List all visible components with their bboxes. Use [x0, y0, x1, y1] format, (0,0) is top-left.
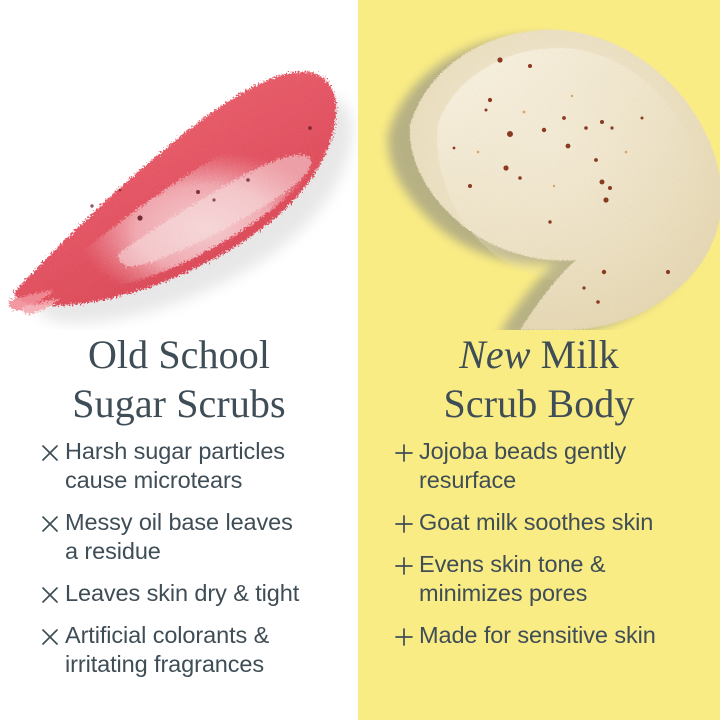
plus-icon [392, 622, 419, 651]
plus-icon [392, 551, 419, 580]
list-item: Evens skin tone & minimizes pores [392, 550, 712, 608]
old-school-heading: Old School Sugar Scrubs [0, 330, 358, 428]
list-item-line1: Evens skin tone & [419, 551, 605, 577]
list-item: Goat milk soothes skin [392, 508, 712, 537]
list-item-line2: irritating fragrances [65, 651, 264, 677]
list-item: Messy oil base leaves a residue [38, 508, 348, 566]
list-item-text: Harsh sugar particles cause microtears [65, 437, 285, 495]
comparison-graphic: Old School Sugar Scrubs Harsh sugar part… [0, 0, 720, 720]
x-icon [38, 580, 65, 609]
list-item-line1: Artificial colorants & [65, 622, 269, 648]
list-item-line1: Messy oil base leaves [65, 509, 293, 535]
list-item-text: Goat milk soothes skin [419, 508, 653, 537]
list-item-text: Messy oil base leaves a residue [65, 508, 293, 566]
list-item-line2: resurface [419, 467, 516, 493]
list-item-line2: a residue [65, 538, 161, 564]
old-school-heading-line1: Old School [0, 330, 358, 379]
list-item-text: Evens skin tone & minimizes pores [419, 550, 605, 608]
new-milk-heading-line1-rest: Milk [531, 332, 619, 377]
list-item: Made for sensitive skin [392, 621, 712, 650]
list-item-text: Artificial colorants & irritating fragra… [65, 621, 269, 679]
list-item: Harsh sugar particles cause microtears [38, 437, 348, 495]
list-item-line1: Harsh sugar particles [65, 438, 285, 464]
new-milk-scrub-panel: New Milk Scrub Body Jojoba beads gently … [358, 0, 720, 720]
list-item-line2: minimizes pores [419, 580, 587, 606]
x-icon [38, 622, 65, 651]
old-school-panel: Old School Sugar Scrubs Harsh sugar part… [0, 0, 358, 720]
plus-icon [392, 509, 419, 538]
old-school-cons-list: Harsh sugar particles cause microtears M… [0, 437, 358, 692]
list-item-line1: Goat milk soothes skin [419, 509, 653, 535]
list-item-text: Made for sensitive skin [419, 621, 656, 650]
list-item: Leaves skin dry & tight [38, 579, 348, 608]
list-item-line1: Jojoba beads gently [419, 438, 626, 464]
new-milk-heading: New Milk Scrub Body [358, 330, 720, 428]
cream-milk-scrub-swatch-image [358, 0, 720, 330]
list-item: Jojoba beads gently resurface [392, 437, 712, 495]
new-milk-heading-line1: New Milk [358, 330, 720, 379]
list-item: Artificial colorants & irritating fragra… [38, 621, 348, 679]
list-item-line1: Leaves skin dry & tight [65, 580, 299, 606]
plus-icon [392, 438, 419, 467]
pink-sugar-scrub-swatch-image [0, 0, 358, 330]
list-item-line2: cause microtears [65, 467, 242, 493]
list-item-line1: Made for sensitive skin [419, 622, 656, 648]
new-milk-pros-list: Jojoba beads gently resurface Goat milk … [358, 437, 720, 663]
old-school-heading-line2: Sugar Scrubs [0, 379, 358, 428]
list-item-text: Leaves skin dry & tight [65, 579, 299, 608]
x-icon [38, 438, 65, 467]
new-milk-heading-line2: Scrub Body [358, 379, 720, 428]
new-emphasis: New [459, 332, 530, 377]
x-icon [38, 509, 65, 538]
list-item-text: Jojoba beads gently resurface [419, 437, 626, 495]
